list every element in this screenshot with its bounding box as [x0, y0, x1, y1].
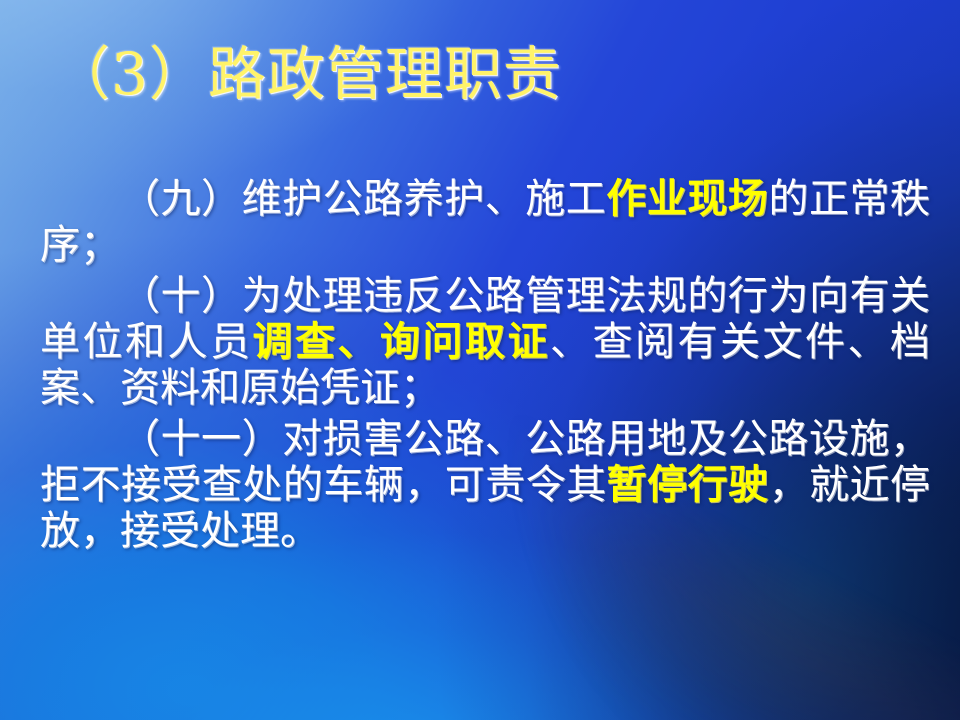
body-text-run: （九）维护公路养护、施工: [120, 176, 606, 222]
highlighted-term: 调查、询问取证: [253, 318, 551, 365]
highlighted-term: 作业现场: [606, 175, 768, 222]
slide-body: （九）维护公路养护、施工作业现场的正常秩序； （十）为处理违反公路管理法规的行为…: [40, 176, 930, 554]
slide-content: （3）路政管理职责 （九）维护公路养护、施工作业现场的正常秩序； （十）为处理违…: [0, 0, 960, 720]
highlighted-term: 暂停行驶: [607, 461, 769, 508]
slide-title: （3）路政管理职责: [52, 44, 562, 105]
body-paragraph-item-9: （九）维护公路养护、施工作业现场的正常秩序；: [40, 176, 930, 268]
body-paragraph-item-11: （十一）对损害公路、公路用地及公路设施，拒不接受查处的车辆，可责令其暂停行驶，就…: [40, 416, 930, 554]
presentation-slide: （3）路政管理职责 （九）维护公路养护、施工作业现场的正常秩序； （十）为处理违…: [0, 0, 960, 720]
body-paragraph-item-10: （十）为处理违反公路管理法规的行为向有关单位和人员调查、询问取证、查阅有关文件、…: [40, 273, 930, 411]
